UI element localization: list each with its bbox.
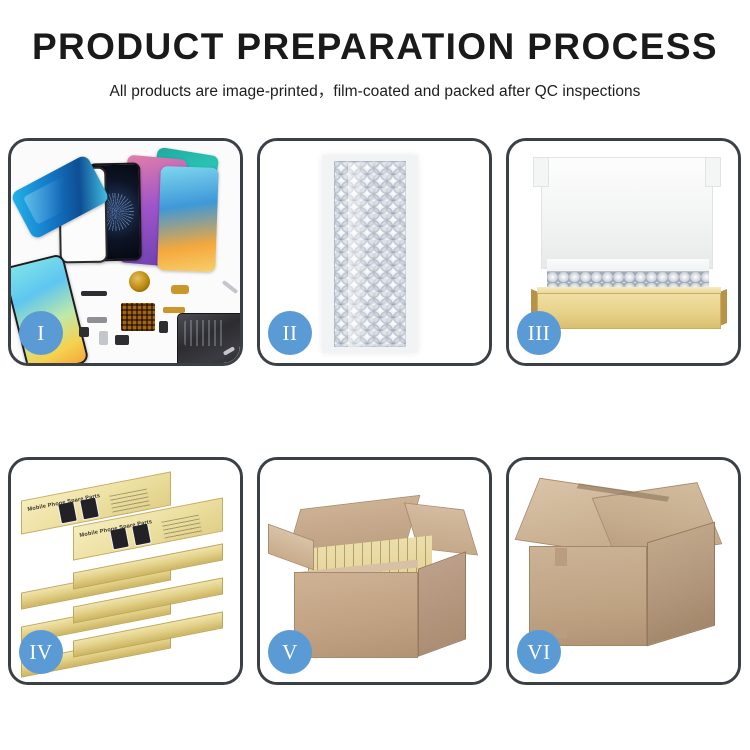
part-camera-module xyxy=(159,321,168,333)
step-image-3: III xyxy=(509,141,738,363)
part-back-housing xyxy=(177,313,240,363)
part-flex-strip xyxy=(81,291,107,296)
part-screwdriver xyxy=(222,280,239,294)
part-gold-bracket xyxy=(171,285,189,294)
carton-front-wall xyxy=(294,572,418,658)
part-connector xyxy=(115,335,129,345)
step-badge-4: IV xyxy=(19,630,63,674)
box-front-wall xyxy=(537,293,721,329)
step-panel-1: I xyxy=(8,138,243,366)
page-title: PRODUCT PREPARATION PROCESS xyxy=(0,28,750,67)
step-panel-2: II xyxy=(257,138,492,366)
steps-grid: I II xyxy=(8,138,742,688)
part-silver-pin xyxy=(99,331,108,345)
part-gray-clip xyxy=(87,317,107,323)
box-lid-tab-right xyxy=(705,157,721,187)
step-image-6: VI xyxy=(509,460,738,682)
step-badge-6: VI xyxy=(517,630,561,674)
step-image-1: I xyxy=(11,141,240,363)
phone-orange xyxy=(157,166,219,272)
step-badge-5: V xyxy=(268,630,312,674)
carton-side-wall xyxy=(418,551,466,656)
step-panel-5: V xyxy=(257,457,492,685)
box-lid-tab-left xyxy=(533,157,549,187)
page-subtitle: All products are image-printed，film-coat… xyxy=(0,79,750,101)
step-badge-2: II xyxy=(268,311,312,355)
sealed-carton-tape-bottom xyxy=(555,624,567,638)
header: PRODUCT PREPARATION PROCESS All products… xyxy=(0,0,750,101)
box-lid xyxy=(541,157,713,269)
spare-parts-cluster xyxy=(71,269,240,363)
step-image-5: V xyxy=(260,460,489,682)
step-panel-4: Mobile Phone Spare Parts Mobile Phone Sp… xyxy=(8,457,243,685)
step-panel-6: VI xyxy=(506,457,741,685)
step-badge-1: I xyxy=(19,311,63,355)
part-gold-mesh xyxy=(121,303,155,331)
step-panel-3: III xyxy=(506,138,741,366)
part-coil xyxy=(129,271,150,292)
step-image-4: Mobile Phone Spare Parts Mobile Phone Sp… xyxy=(11,460,240,682)
step-badge-3: III xyxy=(517,311,561,355)
sealed-carton-side-wall xyxy=(647,522,715,647)
bubble-cells xyxy=(334,161,406,347)
part-chip xyxy=(79,327,89,337)
product-preparation-infographic: PRODUCT PREPARATION PROCESS All products… xyxy=(0,0,750,750)
sealed-carton-tape-top xyxy=(555,548,567,566)
step-image-2: II xyxy=(260,141,489,363)
bubble-pouch xyxy=(322,155,418,353)
